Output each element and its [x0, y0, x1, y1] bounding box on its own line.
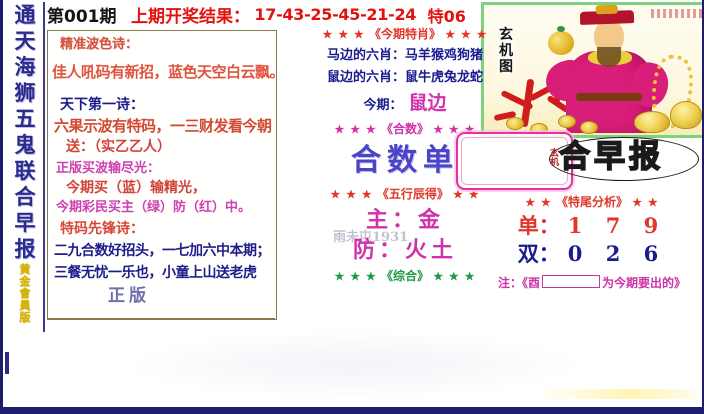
- section-header-label: 《今期特肖》: [369, 27, 441, 41]
- star-icon: ★ ★ ★: [335, 123, 377, 136]
- star-icon: ★ ★ ★: [330, 188, 372, 201]
- footnote-blank-box: [542, 275, 600, 288]
- rat-six-value: 鼠牛虎兔龙蛇: [405, 70, 483, 85]
- even-tails-row: 双：0 2 6: [481, 243, 703, 264]
- edition-char: 版: [7, 312, 43, 324]
- section-header-label: 《合数》: [381, 122, 429, 136]
- star-icon: ★ ★ ★: [433, 270, 475, 283]
- poem-section4-line1: 二九合数好招头，一七加六中本期；: [48, 236, 276, 258]
- figure-hat: [580, 10, 634, 25]
- poem-section4-title: 特码先锋诗：: [48, 214, 276, 236]
- rat-six-label: 鼠边的六肖：: [327, 70, 405, 85]
- wuxing-defend-label: 防：: [353, 237, 405, 263]
- poem-section2-line1: 六果示波有特码，一三财发看今朝: [48, 112, 276, 134]
- masthead-char: 报: [7, 236, 43, 262]
- section-header-label: 《特尾分析》: [556, 195, 628, 209]
- poem-section2-title: 天下第一诗：: [48, 80, 276, 112]
- panel-divider-rule: [47, 318, 275, 319]
- masthead-char: 联: [7, 158, 43, 184]
- masthead-char: 天: [7, 28, 43, 54]
- newspaper-page: 通 天 海 狮 五 鬼 联 合 早 报 黄 金 會 員 版 第001期 上期开奖…: [0, 0, 704, 414]
- wuxing-defend-value: 火土: [405, 237, 457, 263]
- poem-section3-title: 正版买波输尽光：: [48, 154, 276, 175]
- current-pick-label: 今期：: [363, 98, 402, 113]
- seal-stamp-icon: [651, 9, 703, 18]
- left-edge-marker: [5, 352, 9, 374]
- poem-panel: 精准波色诗： 佳人吼码有新招，蓝色天空白云飘。 天下第一诗： 六果示波有特码，一…: [47, 30, 277, 320]
- gold-ingot-icon: [634, 111, 670, 133]
- footnote-prefix: 注：《: [498, 276, 528, 290]
- masthead-char: 海: [7, 54, 43, 80]
- section-header-label: 《综合》: [381, 269, 429, 283]
- last-draw-numbers: 17-43-25-45-21-24: [254, 5, 416, 24]
- bottom-yellow-tint: [536, 389, 696, 399]
- edition-label: 黄 金 會 員 版: [7, 264, 43, 324]
- wuxing-main-value: 金: [418, 207, 444, 233]
- star-icon: ★ ★ ★: [335, 270, 377, 283]
- star-icon: ★ ★: [632, 196, 659, 209]
- current-pick-row: 今期：鼠边: [285, 94, 525, 113]
- figure-sash: [576, 93, 642, 101]
- header-bar: 第001期 上期开奖结果： 17-43-25-45-21-24 特06: [47, 2, 467, 28]
- poem-section3-line2: 今期彩民买主（绿）防（红）中。: [48, 195, 276, 214]
- wuxing-main-label: 主：: [366, 207, 418, 233]
- masthead-char: 五: [7, 106, 43, 132]
- masthead-char: 早: [7, 210, 43, 236]
- footnote-row: 注：《酉为今期要出的》: [481, 275, 703, 289]
- star-icon: ★ ★ ★: [323, 28, 365, 41]
- brand-side-text: 玄机: [548, 148, 558, 166]
- odd-tails-value: 1 7 9: [568, 213, 666, 238]
- ghost-watermark-text: 正版: [108, 281, 150, 306]
- watermark-glow: [123, 330, 583, 400]
- poem-section4-line2: 三餐无忧一乐也，小童上山送老虎: [48, 258, 276, 280]
- section-header-tewei: ★ ★ 《特尾分析》 ★ ★: [481, 196, 703, 208]
- poem-section1-line1: 佳人吼码有新招，蓝色天空白云飘。: [48, 51, 276, 80]
- odd-tails-row: 单：1 7 9: [481, 215, 703, 236]
- star-icon: ★ ★ ★: [445, 28, 487, 41]
- right-column: ★ ★ 《特尾分析》 ★ ★ 单：1 7 9 双：0 2 6 注：《酉为今期要出…: [481, 196, 703, 289]
- masthead-char: 狮: [7, 80, 43, 106]
- even-tails-value: 0 2 6: [568, 241, 666, 266]
- odd-tails-label: 单：: [518, 213, 560, 238]
- horse-six-label: 马边的六肖：: [327, 48, 405, 63]
- poem-section2-line2: 送：（实乙乙人）: [48, 134, 276, 154]
- masthead-char: 鬼: [7, 132, 43, 158]
- gold-coin-icon: [558, 115, 576, 128]
- rat-six-zodiac-row: 鼠边的六肖：鼠牛虎兔龙蛇: [285, 71, 525, 84]
- horse-six-zodiac-row: 马边的六肖：马羊猴鸡狗猪: [285, 49, 525, 62]
- last-draw-label: 上期开奖结果：: [131, 7, 250, 27]
- issue-number: 第001期: [47, 7, 117, 27]
- brand-title: 合早报: [559, 142, 664, 173]
- vertical-masthead: 通 天 海 狮 五 鬼 联 合 早 报 黄 金 會 員 版: [7, 2, 45, 332]
- peach-fruit-icon: [548, 31, 574, 55]
- horse-six-value: 马羊猴鸡狗猪: [405, 48, 483, 63]
- gold-ingot-icon: [670, 101, 702, 129]
- last-draw-special: 特06: [428, 7, 466, 26]
- masthead-char: 通: [7, 2, 43, 28]
- masthead-char: 合: [7, 184, 43, 210]
- poem-section3-line1: 今期买（蓝）输精光，: [48, 175, 276, 195]
- footnote-char: 酉: [528, 276, 540, 290]
- current-pick-value: 鼠边: [409, 92, 447, 114]
- gold-coin-icon: [580, 121, 598, 134]
- figure-beard: [597, 47, 621, 67]
- footnote-suffix: 为今期要出的》: [602, 276, 686, 290]
- section-header-teqixiao: ★ ★ ★ 《今期特肖》 ★ ★ ★: [285, 28, 525, 40]
- star-icon: ★ ★: [525, 196, 552, 209]
- bottom-border-strip: [3, 407, 704, 411]
- poem-section1-title: 精准波色诗：: [48, 31, 276, 51]
- section-header-label: 《五行辰得》: [377, 187, 449, 201]
- even-tails-label: 双：: [518, 241, 560, 266]
